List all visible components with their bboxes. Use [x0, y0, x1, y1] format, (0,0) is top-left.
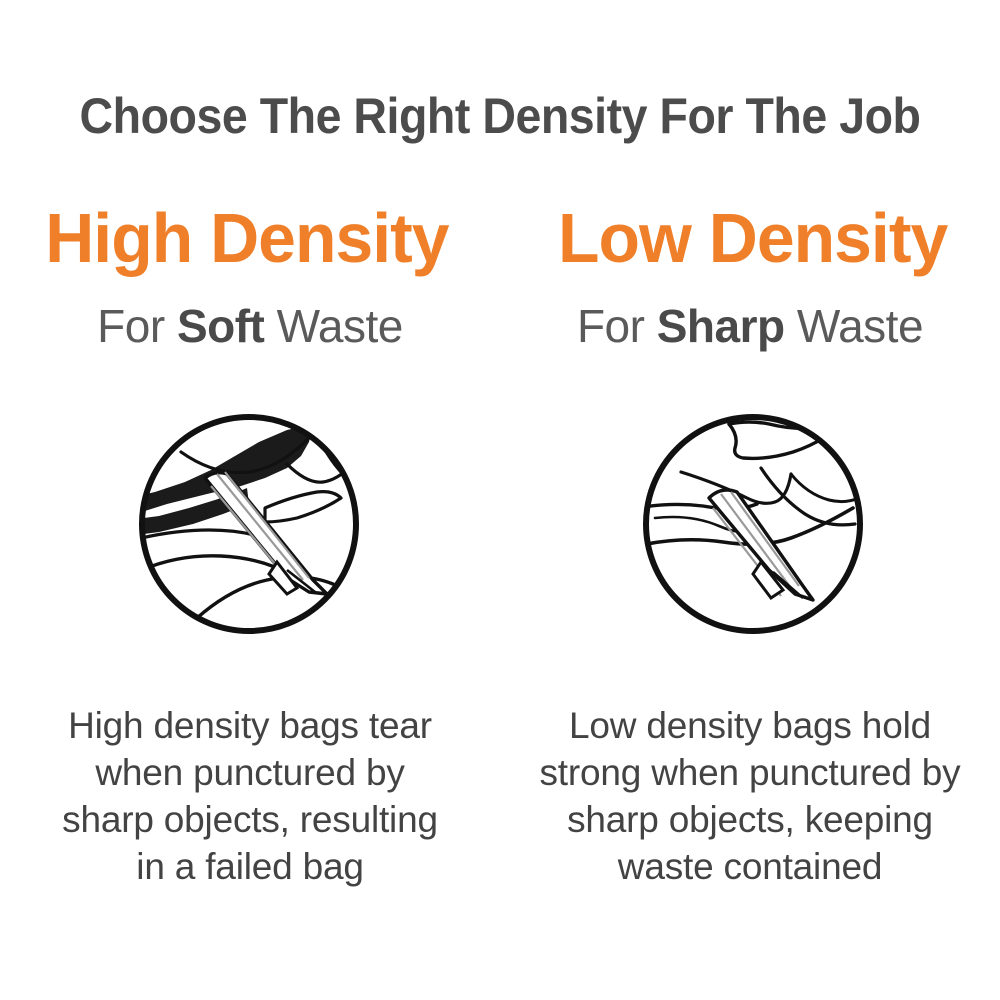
heading-high-density: High Density — [45, 196, 448, 280]
caption-line: waste contained — [515, 843, 985, 890]
subtitle-low-density: For Sharp Waste — [577, 300, 923, 352]
density-comparison-infographic: Choose The Right Density For The Job Hig… — [0, 0, 1000, 1000]
comparison-columns: High Density For Soft Waste — [0, 196, 1000, 976]
caption-line: in a failed bag — [15, 843, 485, 890]
subtitle-emphasis: Sharp — [657, 300, 785, 352]
subtitle-suffix: Waste — [264, 300, 402, 352]
caption-line: strong when punctured by — [515, 749, 985, 796]
heading-low-density: Low Density — [558, 196, 947, 280]
subtitle-prefix: For — [97, 300, 177, 352]
caption-line: Low density bags hold — [515, 702, 985, 749]
caption-line: sharp objects, resulting — [15, 796, 485, 843]
column-low-density: Low Density For Sharp Waste — [500, 196, 1000, 976]
caption-low-density: Low density bags hold strong when punctu… — [515, 702, 985, 890]
column-high-density: High Density For Soft Waste — [0, 196, 500, 976]
caption-high-density: High density bags tear when punctured by… — [15, 702, 485, 890]
illustration-intact-bag-icon — [641, 412, 865, 636]
subtitle-prefix: For — [577, 300, 657, 352]
subtitle-high-density: For Soft Waste — [97, 300, 403, 352]
page-title: Choose The Right Density For The Job — [35, 88, 965, 144]
caption-line: High density bags tear — [15, 702, 485, 749]
subtitle-emphasis: Soft — [177, 300, 264, 352]
caption-line: sharp objects, keeping — [515, 796, 985, 843]
caption-line: when punctured by — [15, 749, 485, 796]
subtitle-suffix: Waste — [785, 300, 923, 352]
illustration-torn-bag-icon — [137, 412, 361, 636]
